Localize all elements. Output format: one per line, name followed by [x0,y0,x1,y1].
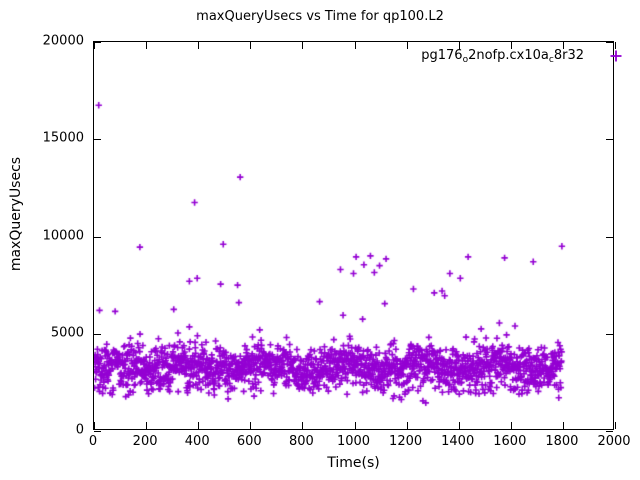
gnuplot-scatter-chart: maxQueryUsecs vs Time for qp100.L2 05000… [0,0,640,480]
y-tick-mark [94,334,101,335]
x-tick-label: 200 [133,434,158,449]
y-tick-label: 20000 [43,34,84,49]
x-axis-title: Time(s) [93,455,614,471]
x-tick-mark [563,422,564,429]
x-tick-label: 600 [237,434,262,449]
y-tick-mark-right [606,139,613,140]
x-tick-mark [250,422,251,429]
x-tick-label: 800 [289,434,314,449]
x-tick-mark [511,422,512,429]
y-tick-label: 10000 [43,228,84,243]
x-tick-mark-top [94,42,95,49]
y-tick-mark-right [606,42,613,43]
y-tick-mark-right [606,334,613,335]
page-title: maxQueryUsecs vs Time for qp100.L2 [0,9,640,24]
y-tick-mark [94,42,101,43]
x-tick-mark-top [146,42,147,49]
legend-series-label: pg176o2nofp.cx10ac8r32 [421,48,584,63]
x-tick-mark-top [198,42,199,49]
x-tick-label: 2000 [597,434,630,449]
x-tick-mark-top [407,42,408,49]
y-tick-mark [94,431,101,432]
x-tick-label: 0 [89,434,97,449]
x-tick-label: 1600 [493,434,526,449]
x-tick-label: 1000 [337,434,370,449]
y-tick-label: 0 [76,423,84,438]
x-tick-label: 1200 [389,434,422,449]
plot-frame-border [93,41,614,430]
x-tick-mark [615,422,616,429]
legend: pg176o2nofp.cx10ac8r32 [421,48,622,63]
x-tick-mark [459,422,460,429]
x-axis-tick-labels: 0200400600800100012001400160018002000 [93,434,614,454]
x-tick-mark-top [250,42,251,49]
x-tick-mark-top [302,42,303,49]
y-tick-mark [94,237,101,238]
x-tick-mark [94,422,95,429]
x-tick-mark [198,422,199,429]
x-tick-mark [302,422,303,429]
x-tick-label: 1400 [441,434,474,449]
x-tick-label: 400 [185,434,210,449]
x-tick-mark [407,422,408,429]
x-tick-mark-top [355,42,356,49]
y-tick-mark-right [606,431,613,432]
y-axis-title: maxQueryUsecs [8,134,24,294]
y-tick-label: 5000 [51,325,84,340]
y-tick-label: 15000 [43,131,84,146]
x-tick-mark [146,422,147,429]
legend-plus-marker-icon [610,50,622,62]
x-tick-label: 1800 [545,434,578,449]
x-tick-mark [355,422,356,429]
y-tick-mark-right [606,237,613,238]
y-tick-mark [94,139,101,140]
